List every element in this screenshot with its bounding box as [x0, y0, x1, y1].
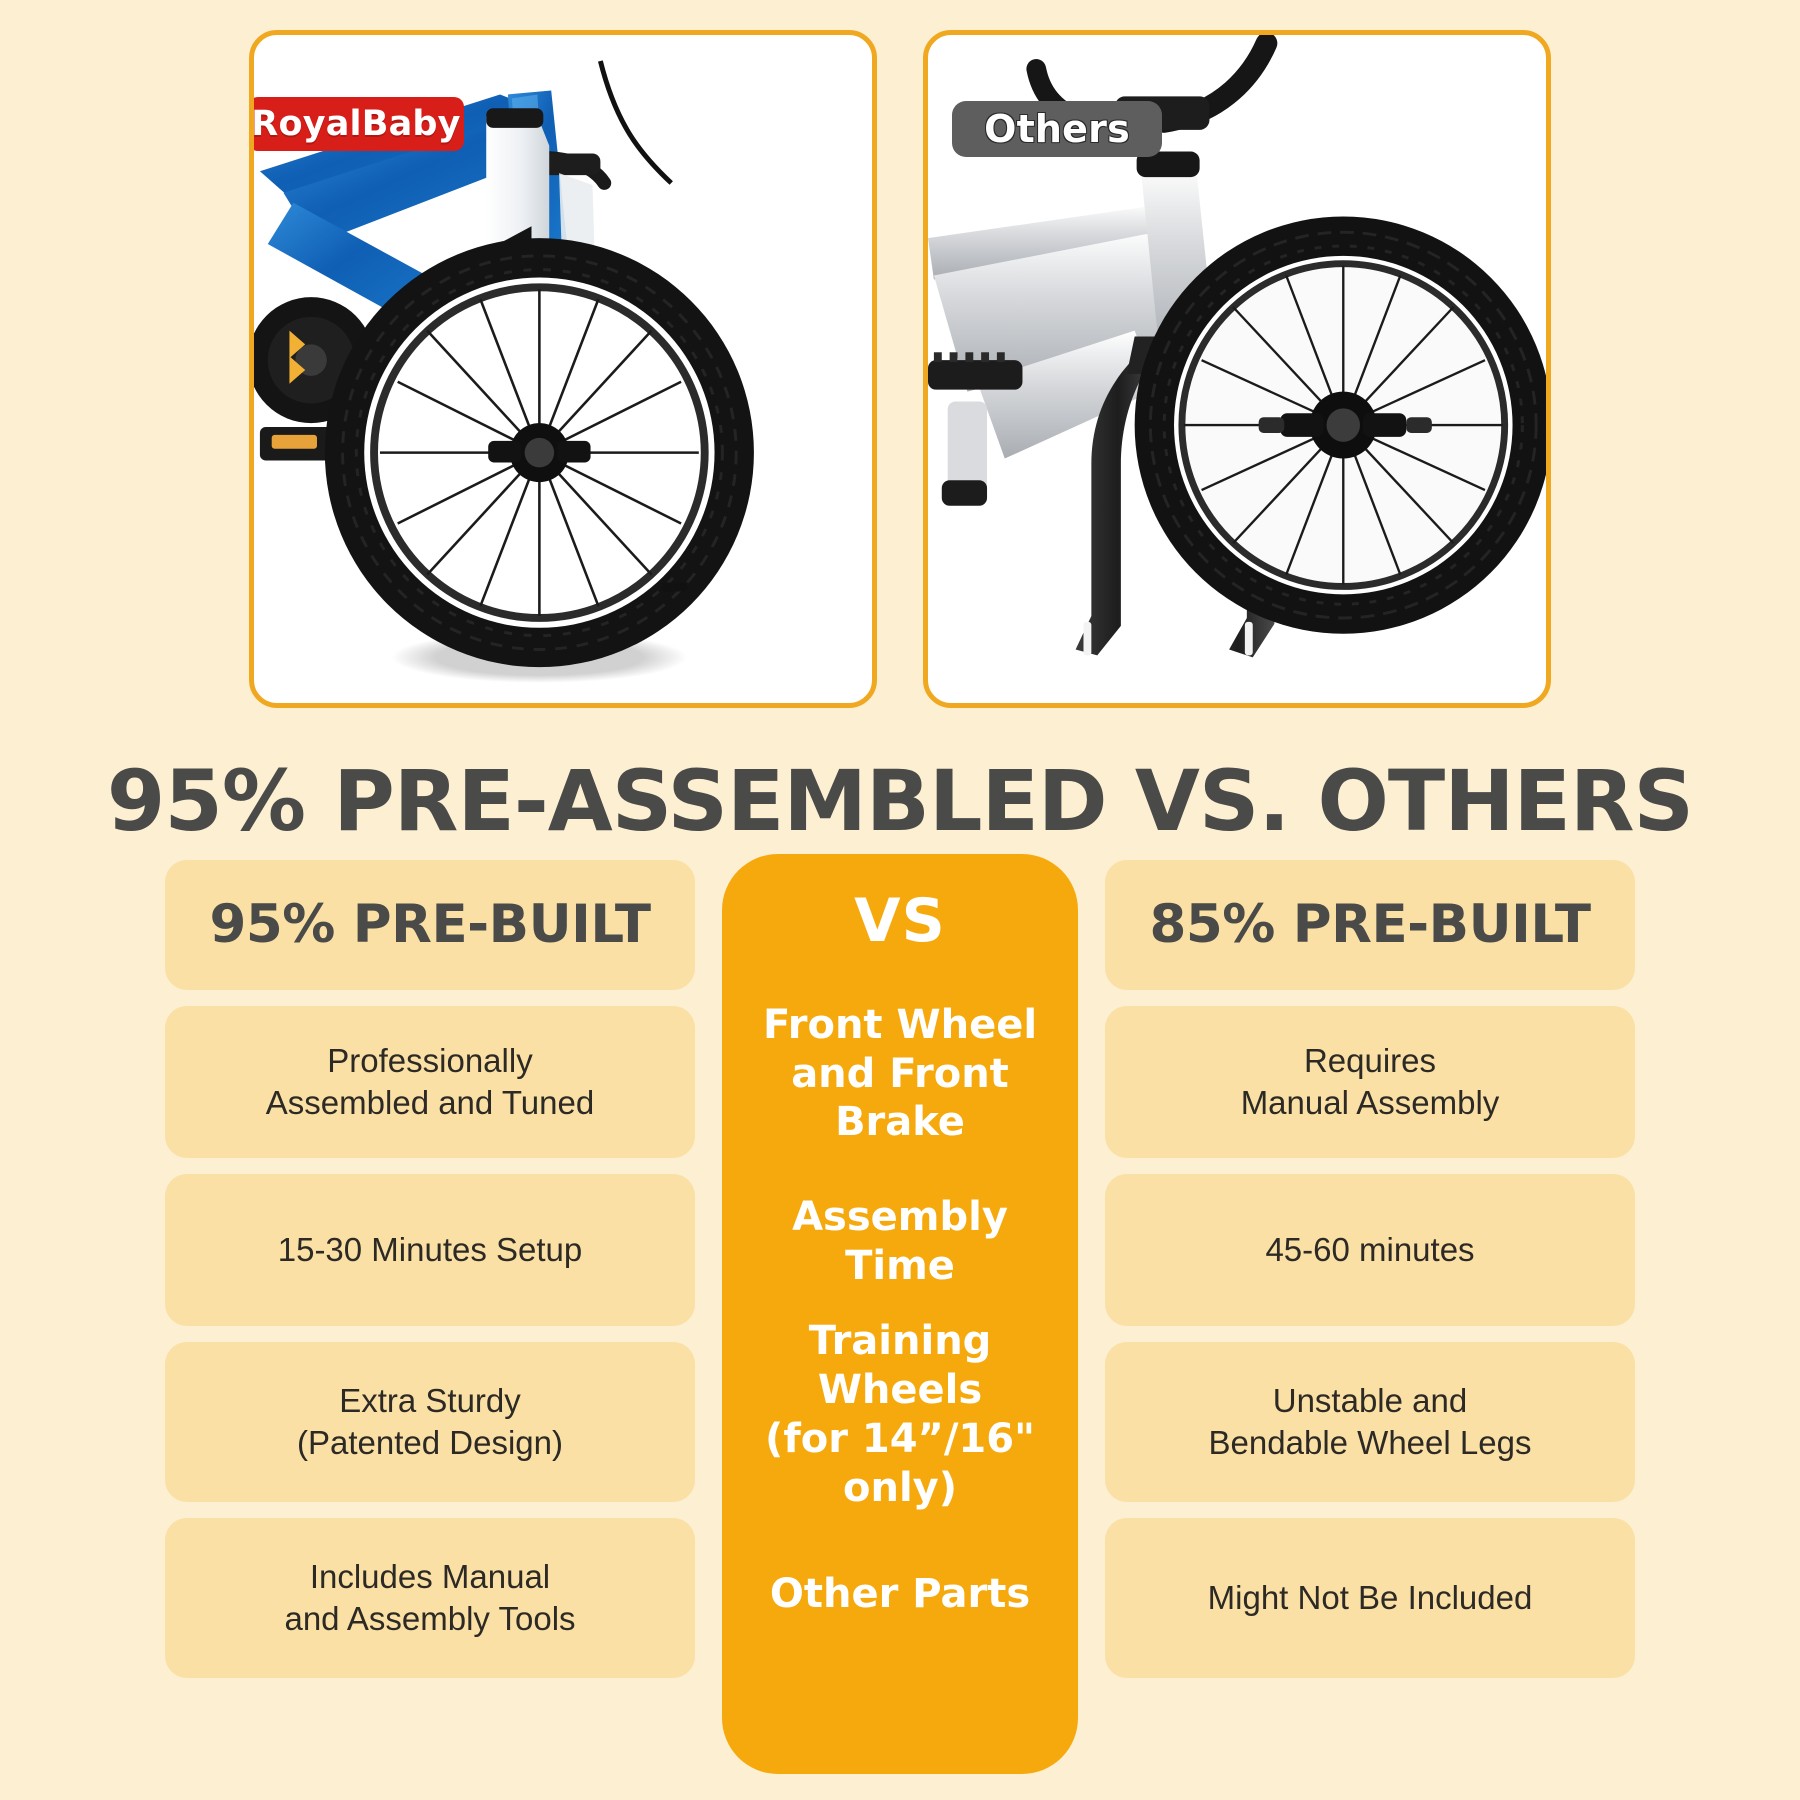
left-cell-row-3-line1: Includes Manual — [310, 1558, 550, 1595]
left-cell-row-1-line1: 15-30 Minutes Setup — [278, 1229, 583, 1271]
right-column-header: 85% PRE-BUILT — [1105, 860, 1635, 990]
right-cell-row-2-line2: Bendable Wheel Legs — [1209, 1424, 1532, 1461]
infographic-root: RoyalBaby — [0, 0, 1800, 1800]
others-badge-label: Others — [984, 107, 1130, 151]
left-cell-row-1: 15-30 Minutes Setup — [165, 1174, 695, 1326]
left-cell-row-3-line2: and Assembly Tools — [284, 1600, 575, 1637]
right-cell-row-0-line1: Requires — [1304, 1042, 1436, 1079]
feature-row-2: Training Wheels (for 14”/16" only) — [722, 1326, 1078, 1504]
royalbaby-badge-label: RoyalBaby — [251, 104, 460, 144]
left-column-header: 95% PRE-BUILT — [165, 860, 695, 990]
left-cell-row-0: Professionally Assembled and Tuned — [165, 1006, 695, 1158]
right-cell-row-2: Unstable and Bendable Wheel Legs — [1105, 1342, 1635, 1502]
photo-card-others: Others — [923, 30, 1551, 708]
feature-row-2-line1: Training Wheels — [809, 1318, 992, 1413]
feature-row-3: Other Parts — [722, 1504, 1078, 1684]
comparison-column-others: 85% PRE-BUILT Requires Manual Assembly 4… — [1105, 860, 1635, 1678]
feature-row-3-line1: Other Parts — [770, 1570, 1030, 1619]
right-cell-row-0: Requires Manual Assembly — [1105, 1006, 1635, 1158]
right-cell-row-1: 45-60 minutes — [1105, 1174, 1635, 1326]
photo-card-royalbaby: RoyalBaby — [249, 30, 877, 708]
feature-row-0: Front Wheel and Front Brake — [722, 990, 1078, 1158]
left-cell-row-2-line1: Extra Sturdy — [339, 1382, 521, 1419]
page-title: 95% PRE-ASSEMBLED VS. OTHERS — [0, 752, 1800, 850]
vs-label: VS — [722, 854, 1078, 990]
others-brand-badge: Others — [952, 101, 1162, 157]
royalbaby-brand-badge: RoyalBaby — [249, 97, 464, 151]
product-photo-row: RoyalBaby — [0, 0, 1800, 740]
feature-row-1-line1: Assembly Time — [732, 1193, 1068, 1291]
feature-row-1: Assembly Time — [722, 1158, 1078, 1326]
feature-row-0-line1: Front Wheel — [763, 1002, 1037, 1048]
right-cell-row-1-line1: 45-60 minutes — [1265, 1229, 1474, 1271]
left-cell-row-2: Extra Sturdy (Patented Design) — [165, 1342, 695, 1502]
left-cell-row-0-line2: Assembled and Tuned — [266, 1084, 594, 1121]
comparison-table: 95% PRE-BUILT Professionally Assembled a… — [0, 860, 1800, 1775]
right-cell-row-3: Might Not Be Included — [1105, 1518, 1635, 1678]
comparison-column-feature: VS Front Wheel and Front Brake Assembly … — [722, 854, 1078, 1774]
feature-row-0-line2: and Front Brake — [791, 1051, 1009, 1146]
right-cell-row-0-line2: Manual Assembly — [1241, 1084, 1500, 1121]
left-cell-row-2-line2: (Patented Design) — [297, 1424, 563, 1461]
feature-row-2-line2: (for 14”/16" only) — [765, 1416, 1035, 1511]
right-cell-row-3-line1: Might Not Be Included — [1208, 1577, 1533, 1619]
right-cell-row-2-line1: Unstable and — [1273, 1382, 1467, 1419]
left-cell-row-0-line1: Professionally — [327, 1042, 532, 1079]
comparison-column-royalbaby: 95% PRE-BUILT Professionally Assembled a… — [165, 860, 695, 1678]
left-cell-row-3: Includes Manual and Assembly Tools — [165, 1518, 695, 1678]
